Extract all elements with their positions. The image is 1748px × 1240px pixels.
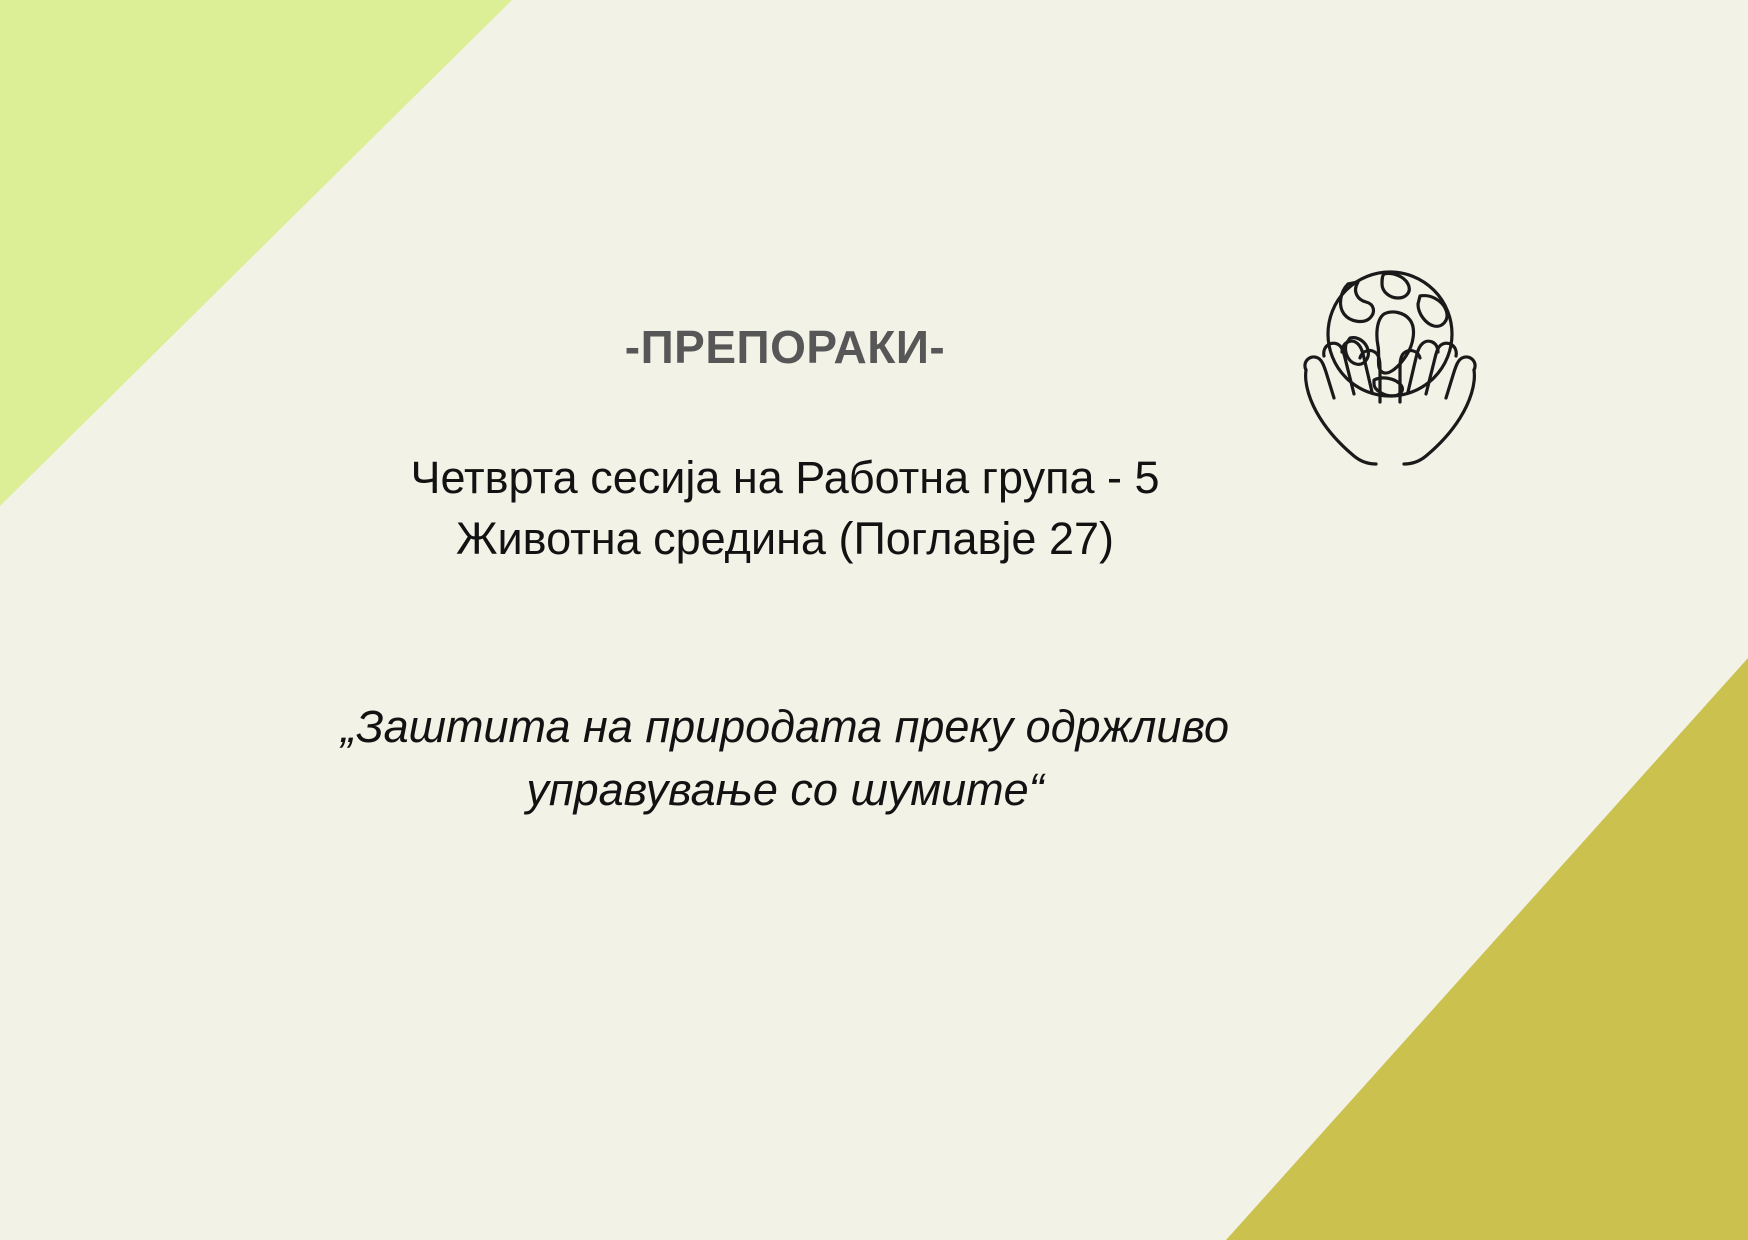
top-left-triangle-decoration [0,0,512,506]
subtitle-line-1: Четврта сесија на Работна група - 5 [0,452,1570,504]
subtitle-line-2: Животна средина (Поглавје 27) [0,513,1570,565]
quote-line-2: управување со шумите“ [0,763,1570,817]
presentation-slide: -ПРЕПОРАКИ- Четврта сесија на Работна гр… [0,0,1748,1240]
quote-line-1: „Заштита на природата преку одржливо [0,700,1570,754]
slide-title: -ПРЕПОРАКИ- [0,322,1570,373]
